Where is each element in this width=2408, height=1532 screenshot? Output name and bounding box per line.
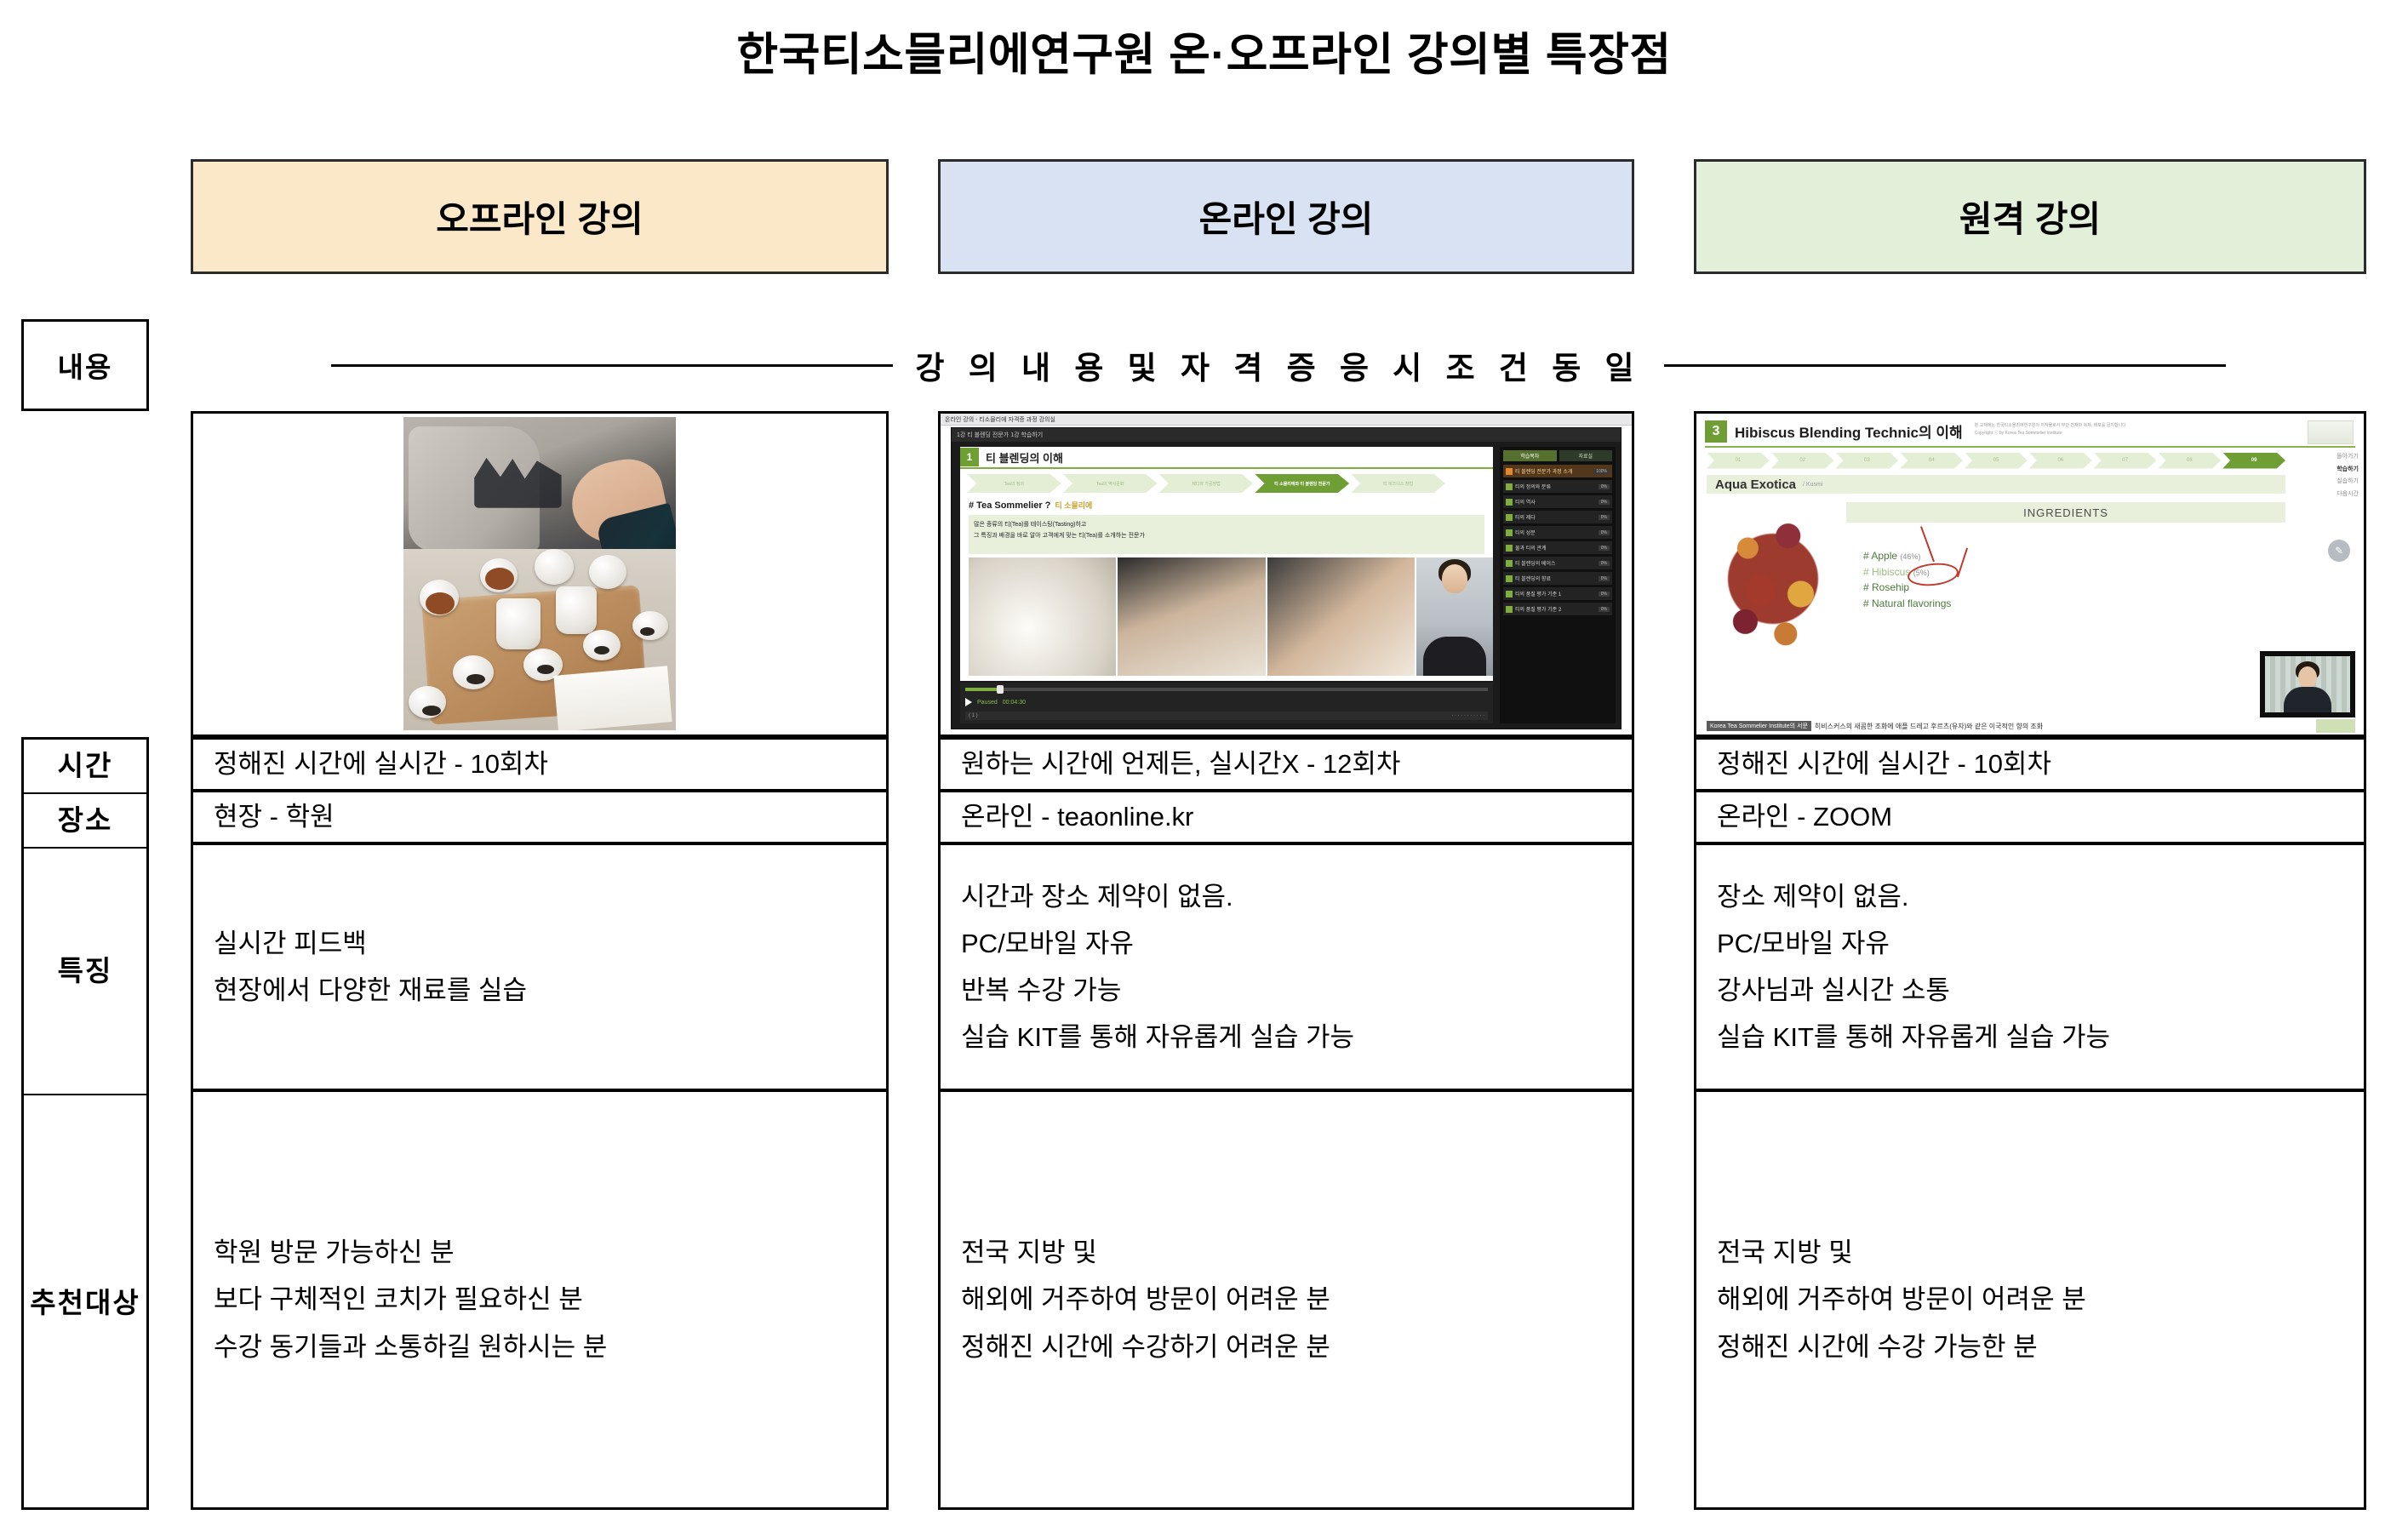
cell-text: 강사님과 실시간 소통 [1717,967,2343,1014]
cell-text: 정해진 시간에 실시간 - 10회차 [214,740,866,787]
playlist-item[interactable]: 물과 티의 관계0% [1503,541,1612,554]
playlist-item-label: 물과 티의 관계 [1515,544,1546,552]
playlist-progress: 0% [1599,576,1610,581]
photo-tea-cup [535,549,574,585]
step-chip: Tea의 역사문화 [1063,474,1158,493]
participant-head [2298,666,2317,689]
playlist-item[interactable]: 티 블렌딩의 베이스0% [1503,557,1612,569]
cell-text: 학원 방문 가능하신 분 [214,1229,866,1276]
slide-title: 티 블렌딩의 이해 [979,449,1063,466]
slide-body-line-2: 그 특징과 배경을 바로 알아 고객에게 맞는 티(Tea)를 소개하는 전문가 [974,530,1479,541]
step-chip: 01 [1707,453,1770,469]
cell-feature-offline: 실시간 피드백 현장에서 다양한 재료를 실습 [191,843,889,1091]
playlist-item-label: 티 블렌딩의 베이스 [1515,559,1556,567]
playlist-progress: 0% [1599,561,1610,566]
slide-step-arrows: Tea의 정의 Tea의 역사문화 제다와 가공방법 티 소믈리에와 티 블렌딩… [967,472,1445,494]
step-chip-active: 티 소믈리에와 티 블렌딩 전문가 [1255,474,1349,493]
cell-time-remote: 정해진 시간에 실시간 - 10회차 [1694,737,2366,792]
slide-question: # Tea Sommelier ?티 소믈리에 [969,500,1092,511]
playlist-item-label: 티 블렌딩 전문가 과정 소개 [1515,467,1572,475]
step-chip: 07 [2094,453,2157,469]
ingredients-heading: INGREDIENTS [1846,502,2285,523]
copyright-line-2: Copyright ⓒ by Korea Tea Sommelier Insti… [1975,431,2062,436]
playlist-item-label: 티의 정의와 분류 [1515,483,1551,490]
step-chip: 03 [1836,453,1899,469]
row-label-recommend-line1: 추천 [30,1285,85,1321]
instructor-video [1416,557,1493,676]
side-menu-back[interactable]: 돌아가기 [2291,451,2359,464]
product-name: Aqua Exotica [1715,477,1796,492]
row-label-column: 시간 장소 특징 추천 대상 [21,737,149,1510]
content-banner: 강 의 내 용 및 자 격 증 응 시 조 건 동 일 [191,319,2366,411]
ingredient-percent: (46%) [1900,552,1920,561]
pen-tool-icon[interactable]: ✎ [2328,540,2350,562]
ingredient-name: # Rosehip [1863,581,1909,593]
playback-time: 00:04:30 [1003,700,1026,706]
institute-logo [2308,420,2354,444]
slide-body: 많은 종류의 티(Tea)를 테이스팅(Tasting)하고 그 특징과 배경을… [969,515,1484,554]
cell-text: PC/모바일 자유 [961,920,1611,967]
seek-bar[interactable] [965,688,1488,691]
remote-slide-header: 3 Hibiscus Blending Technic의 이해 본 교재에는 한… [1705,420,2355,448]
column-header-online: 온라인 강의 [938,159,1634,274]
cell-place-offline: 현장 - 학원 [191,790,889,844]
step-chip: 06 [2029,453,2092,469]
cell-text: 온라인 - ZOOM [1717,793,2343,840]
remote-side-menu[interactable]: 돌아가기 학습하기 실습하기 다음시간 [2291,451,2359,501]
cell-text: 원하는 시간에 언제든, 실시간X - 12회차 [961,740,1611,787]
playlist-item-label: 티의 품질 평가 기준 1 [1515,590,1561,597]
cell-time-offline: 정해진 시간에 실시간 - 10회차 [191,737,889,792]
photo-dry-leaves [422,706,441,716]
cell-text: 정해진 시간에 수강 가능한 분 [1717,1323,2343,1370]
slide-photo-cups [969,557,1116,676]
photo-brewed-tea [426,592,455,615]
slide-question-text: # Tea Sommelier ? [969,500,1050,511]
playlist-item-current[interactable]: 티 블렌딩 전문가 과정 소개100% [1503,465,1612,477]
remote-slide-title: Hibiscus Blending Technic의 이해 [1727,420,1963,442]
slide-page-bar[interactable]: ( 1 ) · · · · · · · · · · · [965,712,1488,720]
side-menu-practice[interactable]: 실습하기 [2291,476,2359,489]
remote-zoom-slide: 3 Hibiscus Blending Technic의 이해 본 교재에는 한… [1696,414,2364,735]
instructor-head [1442,564,1467,593]
row-label-content-text: 내용 [58,345,113,386]
remote-copyright: 본 교재에는 한국티소믈리에연구원의 저작물로서 무단 전재와 복제, 배포를 … [1963,420,2126,437]
footer-badge: Korea Tea Sommelier Institute의 서문 [1707,721,1811,731]
row-label-time: 시간 [24,740,146,794]
photo-dry-leaves [537,665,554,674]
playlist-item[interactable]: 티 블렌딩의 향료0% [1503,572,1612,585]
row-label-place: 장소 [24,794,146,849]
playlist-item[interactable]: 티의 성분0% [1503,526,1612,539]
side-menu-study[interactable]: 학습하기 [2337,466,2359,472]
cell-text: 현장에서 다양한 재료를 실습 [214,967,866,1014]
zoom-video-background [2265,656,2350,712]
playlist-item-label: 티의 제다 [1515,513,1536,521]
photo-dry-leaves [594,646,609,655]
cell-text: 전국 지방 및 [1717,1229,2343,1276]
sidebar-tabs[interactable]: 학습목차 자료실 [1503,450,1612,461]
step-chip: 티 비즈니스 창업 [1351,474,1445,493]
row-label-feature: 특징 [24,849,146,1095]
ingredient-name: # Hibiscus [1863,566,1910,578]
slide-number: 1 [960,448,979,466]
column-header-remote: 원격 강의 [1694,159,2366,274]
playlist-progress: 0% [1599,546,1610,551]
player-frame: 1강 티 블렌딩 전문가 1강 학습하기 1 티 블렌딩의 이해 Tea의 정의… [951,427,1622,729]
playlist-progress: 0% [1599,592,1610,597]
photo-dry-leaves [466,674,485,684]
cell-text: 전국 지방 및 [961,1229,1611,1276]
slide-photo-tasting [1267,557,1415,676]
photo-leaf-dish [632,611,668,640]
play-state-label: Paused [977,700,998,706]
row-label-content: 내용 [21,319,149,411]
slide-question-sub: 티 소믈리에 [1050,501,1092,510]
slide-photo-pouring [1118,557,1265,676]
page-thumbs[interactable]: · · · · · · · · · · · [1451,713,1484,718]
playlist-progress: 100% [1593,469,1610,474]
player-course-bar: 1강 티 블렌딩 전문가 1강 학습하기 [952,428,1621,442]
playlist-item-label: 티 블렌딩의 향료 [1515,574,1551,582]
playlist-item[interactable]: 티의 품질 평가 기준 10% [1503,587,1612,600]
cell-text: 실시간 피드백 [214,920,866,967]
sidebar-tab-curriculum[interactable]: 학습목차 [1503,450,1557,461]
column-header-offline-label: 오프라인 강의 [436,191,643,243]
ingredient-name: # Apple [1863,550,1897,562]
cell-text: 실습 KIT를 통해 자유롭게 실습 가능 [961,1014,1611,1060]
playlist-progress: 0% [1599,530,1610,535]
playlist-item[interactable]: 티의 역사0% [1503,495,1612,508]
photo-worksheet [554,666,673,730]
photo-tea-cup [589,555,626,589]
playlist-progress: 0% [1599,515,1610,520]
banner-line-right [1664,364,2226,367]
playlist-item[interactable]: 티의 정의와 분류0% [1503,480,1612,493]
playlist-item-label: 티의 성분 [1515,529,1536,536]
product-brand: / Kusmi [1796,482,1822,488]
row-label-recommend-line2: 대상 [85,1285,140,1321]
column-header-remote-label: 원격 강의 [1959,191,2101,243]
playlist-item[interactable]: 티의 제다0% [1503,511,1612,523]
step-chip: 08 [2158,453,2221,469]
offline-classroom-photo [403,417,676,730]
column-header-offline: 오프라인 강의 [191,159,889,274]
playlist-item-label: 티의 품질 평가 기준 2 [1515,605,1561,613]
cell-text: 장소 제약이 없음. [1717,873,2343,920]
annotation-arrow [1957,547,1968,577]
step-chip: 04 [1900,453,1963,469]
zoom-participant-tile [2260,651,2355,717]
cell-feature-online: 시간과 장소 제약이 없음. PC/모바일 자유 반복 수강 가능 실습 KIT… [938,843,1634,1091]
participant-body [2284,687,2331,712]
playlist-progress: 0% [1599,500,1610,505]
page-title: 한국티소믈리에연구원 온·오프라인 강의별 특장점 [0,19,2408,83]
step-chip: 제다와 가공방법 [1159,474,1254,493]
column-header-online-label: 온라인 강의 [1199,191,1374,243]
transport-row[interactable]: Paused 00:04:30 [965,696,1488,708]
media-online-player-screenshot: 온라인 강의 - 티소믈리에 자격증 과정 강의실 1강 티 블렌딩 전문가 1… [938,411,1634,737]
cell-text: 정해진 시간에 실시간 - 10회차 [1717,740,2343,787]
cell-feature-remote: 장소 제약이 없음. PC/모바일 자유 강사님과 실시간 소통 실습 KIT를… [1694,843,2366,1091]
cell-text: 해외에 거주하여 방문이 어려운 분 [961,1276,1611,1323]
cell-time-online: 원하는 시간에 언제든, 실시간X - 12회차 [938,737,1634,792]
content-banner-text: 강 의 내 용 및 자 격 증 응 시 조 건 동 일 [915,342,1641,388]
photo-gaiwan [496,598,541,649]
playlist-item[interactable]: 티의 품질 평가 기준 20% [1503,603,1612,615]
cell-text: 현장 - 학원 [214,793,866,840]
hibiscus-blend-photo [1710,502,1836,655]
side-menu-next[interactable]: 다음시간 [2291,489,2359,501]
step-chip: 02 [1771,453,1834,469]
page-indicator: ( 1 ) [969,713,978,718]
player-sidebar[interactable]: 학습목차 자료실 티 블렌딩 전문가 과정 소개100% 티의 정의와 분류0%… [1500,447,1616,723]
cell-recommend-online: 전국 지방 및 해외에 거주하여 방문이 어려운 분 정해진 시간에 수강하기 … [938,1089,1634,1510]
cell-place-remote: 온라인 - ZOOM [1694,790,2366,844]
player-controls[interactable]: Paused 00:04:30 ( 1 ) · · · · · · · · · … [960,683,1493,723]
media-offline-photo [191,411,889,737]
cell-recommend-remote: 전국 지방 및 해외에 거주하여 방문이 어려운 분 정해진 시간에 수강 가능… [1694,1089,2366,1510]
photo-gaiwan [556,586,597,634]
cell-text: 온라인 - teaonline.kr [961,793,1611,840]
photo-brewed-tea [485,568,514,590]
slide-header: 1 티 블렌딩의 이해 [960,447,1493,469]
player-slide: 1 티 블렌딩의 이해 Tea의 정의 Tea의 역사문화 제다와 가공방법 티… [960,447,1493,681]
remote-product-band: Aqua Exotica / Kusmi [1707,475,2285,494]
ingredient-name: # Natural flavorings [1863,597,1951,609]
cell-text: 실습 KIT를 통해 자유롭게 실습 가능 [1717,1014,2343,1060]
sidebar-tab-resources[interactable]: 자료실 [1559,450,1613,461]
remote-step-arrows: 01 02 03 04 05 06 07 08 09 [1707,451,2285,470]
cell-text: 보다 구체적인 코치가 필요하신 분 [214,1276,866,1323]
cell-text: 해외에 거주하여 방문이 어려운 분 [1717,1276,2343,1323]
play-icon[interactable] [965,698,972,706]
cell-text: 시간과 장소 제약이 없음. [961,873,1611,920]
cell-text: 반복 수강 가능 [961,967,1611,1014]
row-label-recommend: 추천 대상 [24,1095,146,1511]
step-chip: Tea의 정의 [967,474,1061,493]
remote-slide-number: 3 [1705,420,1727,443]
ingredient-row: # Natural flavorings [1863,596,1951,612]
playlist-progress: 0% [1599,607,1610,612]
ingredient-row: # Apple (46%) [1863,548,1951,564]
player-window-titlebar: 온라인 강의 - 티소믈리에 자격증 과정 강의실 [941,414,1632,426]
cell-place-online: 온라인 - teaonline.kr [938,790,1634,844]
cell-text: 수강 동기들과 소통하길 원하시는 분 [214,1323,866,1370]
playlist-progress: 0% [1599,484,1610,489]
step-chip-active: 09 [2222,453,2285,469]
cell-recommend-offline: 학원 방문 가능하신 분 보다 구체적인 코치가 필요하신 분 수강 동기들과 … [191,1089,889,1510]
banner-line-left [331,364,893,367]
playlist-item-label: 티의 역사 [1515,498,1536,506]
cell-text: 정해진 시간에 수강하기 어려운 분 [961,1323,1611,1370]
photo-dry-leaves [640,627,655,636]
remote-footer: Korea Tea Sommelier Institute의 서문 히비스커스의… [1707,719,2354,733]
slide-body-line-1: 많은 종류의 티(Tea)를 테이스팅(Tasting)하고 [974,519,1479,530]
footer-text: 히비스커스의 새콤한 조화에 애플 드레고 후르츠(유자)와 같은 이국적인 향… [1815,722,2043,731]
instructor-body [1423,637,1486,676]
slide-photo-strip [969,557,1415,676]
copyright-line-1: 본 교재에는 한국티소믈리에연구원의 저작물로서 무단 전재와 복제, 배포를 … [1975,423,2126,428]
media-remote-zoom-screenshot: 3 Hibiscus Blending Technic의 이해 본 교재에는 한… [1694,411,2366,737]
cell-text: PC/모바일 자유 [1717,920,2343,967]
online-lms-player: 온라인 강의 - 티소믈리에 자격증 과정 강의실 1강 티 블렌딩 전문가 1… [941,414,1632,735]
step-chip: 05 [1965,453,2028,469]
